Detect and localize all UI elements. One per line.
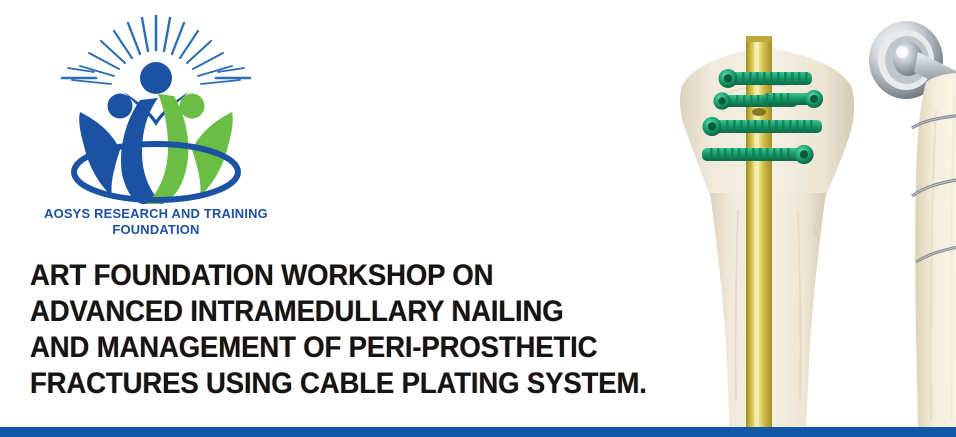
logo-wordmark-line-1: AOSYS RESEARCH AND TRAINING: [25, 206, 288, 222]
event-title: ART FOUNDATION WORKSHOP ON ADVANCED INTR…: [30, 258, 630, 402]
human-figure-green-right-icon: [180, 94, 205, 119]
event-title-line-3: AND MANAGEMENT OF PERI-PROSTHETIC: [30, 330, 582, 366]
human-figure-blue-center-icon: [140, 62, 172, 94]
event-banner: AOSYS RESEARCH AND TRAINING FOUNDATION A…: [0, 0, 956, 437]
human-figure-blue-left-icon: [108, 94, 133, 119]
logo-wordmark: AOSYS RESEARCH AND TRAINING FOUNDATION: [22, 206, 290, 238]
bottom-accent-bar: [0, 427, 956, 437]
event-title-line-4: FRACTURES USING CABLE PLATING SYSTEM.: [30, 366, 582, 402]
organization-logo: AOSYS RESEARCH AND TRAINING FOUNDATION: [22, 8, 290, 240]
event-title-line-2: ADVANCED INTRAMEDULLARY NAILING: [30, 294, 582, 330]
photo-intramedullary-nail-bone-model: [666, 0, 866, 427]
logo-mark: [22, 8, 290, 204]
event-title-line-1: ART FOUNDATION WORKSHOP ON: [30, 258, 582, 294]
logo-wordmark-line-2: FOUNDATION: [25, 222, 288, 238]
content-column: AOSYS RESEARCH AND TRAINING FOUNDATION A…: [0, 0, 640, 437]
photo-hip-prosthesis-cable-plate: [866, 0, 956, 427]
